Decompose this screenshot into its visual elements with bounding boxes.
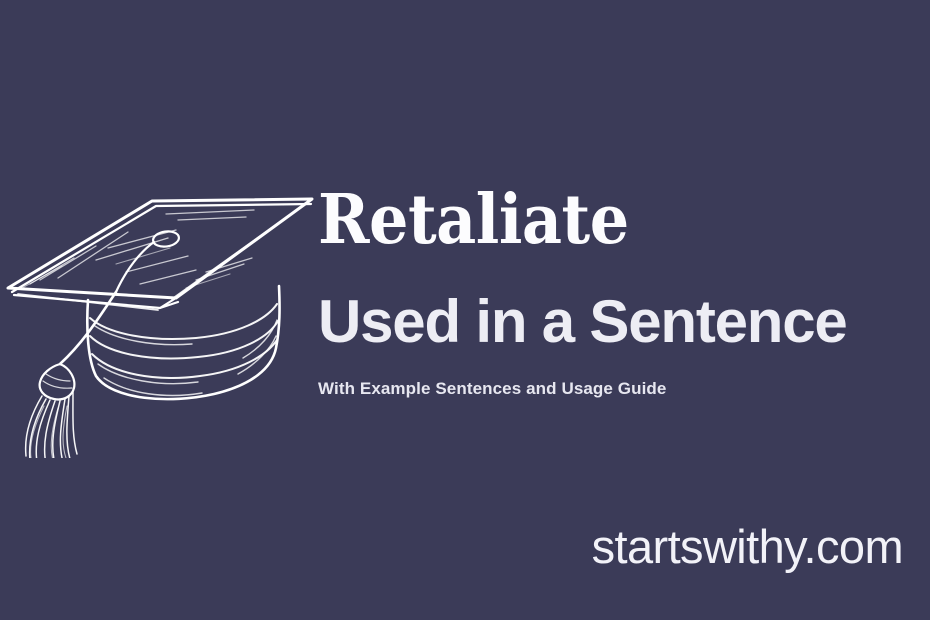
word-title: Retaliate <box>318 186 918 254</box>
poster-canvas: Retaliate Used in a Sentence With Exampl… <box>0 0 930 620</box>
headline: Used in a Sentence <box>318 292 847 352</box>
title-block: Retaliate Used in a Sentence With Exampl… <box>318 186 918 248</box>
graduation-cap-icon <box>0 168 320 458</box>
site-brand: startswithy.com <box>592 523 903 570</box>
tagline: With Example Sentences and Usage Guide <box>318 380 666 397</box>
